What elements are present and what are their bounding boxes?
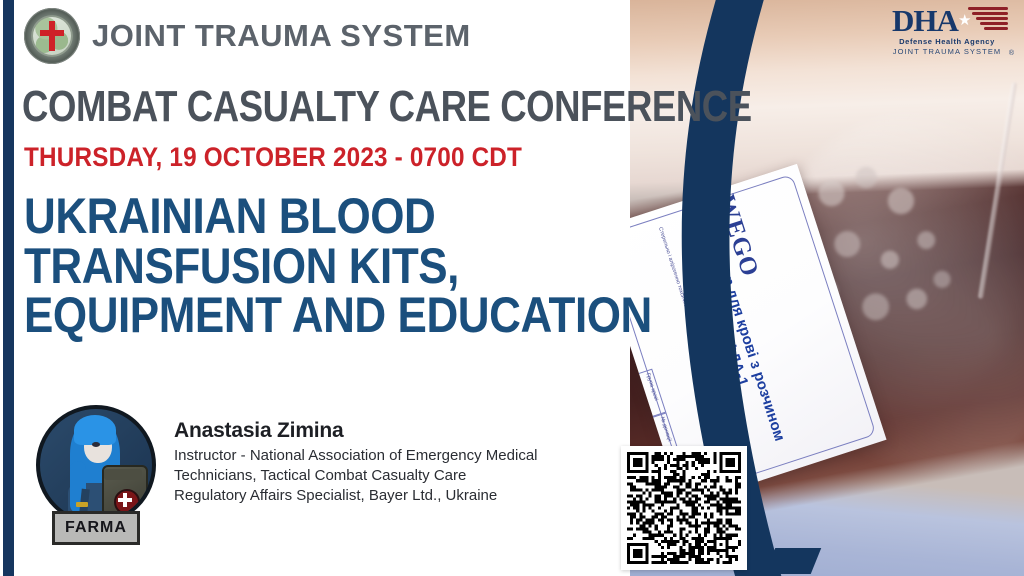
registered-mark-icon: ® — [1009, 50, 1014, 57]
dha-subtitle-program: JOINT TRAUMA SYSTEM — [886, 47, 1008, 56]
avatar-name-plate: FARMA — [52, 511, 140, 545]
red-cross-vertical — [49, 21, 55, 51]
speaker-details: Anastasia Zimina Instructor - National A… — [174, 405, 538, 506]
us-flag-icon — [968, 7, 1008, 33]
red-cross-horizontal — [40, 30, 64, 36]
conference-date: THURSDAY, 19 OCTOBER 2023 - 0700 CDT — [24, 142, 522, 173]
dha-wordmark: DHA ★ — [886, 4, 1008, 38]
topic-line: TRANSFUSION KITS, — [24, 242, 605, 292]
brand-header: JOINT TRAUMA SYSTEM — [24, 8, 471, 64]
speaker-block: FARMA Anastasia Zimina Instructor - Nati… — [28, 405, 538, 557]
organization-name: JOINT TRAUMA SYSTEM — [92, 18, 471, 54]
badge-cross-horizontal — [118, 498, 132, 502]
speaker-role-line: Instructor - National Association of Eme… — [174, 446, 538, 466]
conference-announcement-slide: WEGO Контейнер для крові з розчином анти… — [0, 0, 1024, 576]
topic-line: EQUIPMENT AND EDUCATION — [24, 291, 605, 341]
qr-code-card[interactable] — [621, 446, 747, 570]
medic-character-avatar-icon — [36, 405, 156, 525]
jts-seal-icon — [24, 8, 80, 64]
session-topic: UKRAINIAN BLOOD TRANSFUSION KITS, EQUIPM… — [24, 192, 605, 341]
dha-letters: DHA — [892, 4, 958, 38]
qr-code-icon[interactable] — [627, 452, 741, 564]
dha-subtitle-agency: Defense Health Agency — [886, 37, 1008, 46]
left-accent-rail — [3, 0, 14, 576]
dha-logo: DHA ★ Defense Health Agency JOINT TRAUMA… — [886, 4, 1008, 56]
speaker-role-line: Technicians, Tactical Combat Casualty Ca… — [174, 466, 538, 486]
speaker-role-line: Regulatory Affairs Specialist, Bayer Ltd… — [174, 486, 538, 506]
avatar-badge-label: FARMA — [65, 519, 127, 537]
topic-line: UKRAINIAN BLOOD — [24, 192, 605, 242]
speaker-role: Instructor - National Association of Eme… — [174, 446, 538, 506]
backpack-lid — [104, 469, 142, 480]
hair-top — [74, 415, 116, 445]
conference-title: COMBAT CASUALTY CARE CONFERENCE — [22, 82, 752, 132]
speaker-name: Anastasia Zimina — [174, 419, 538, 443]
avatar: FARMA — [28, 405, 156, 557]
star-icon: ★ — [958, 13, 971, 28]
character-eye — [92, 442, 100, 447]
rank-insignia — [76, 502, 88, 507]
